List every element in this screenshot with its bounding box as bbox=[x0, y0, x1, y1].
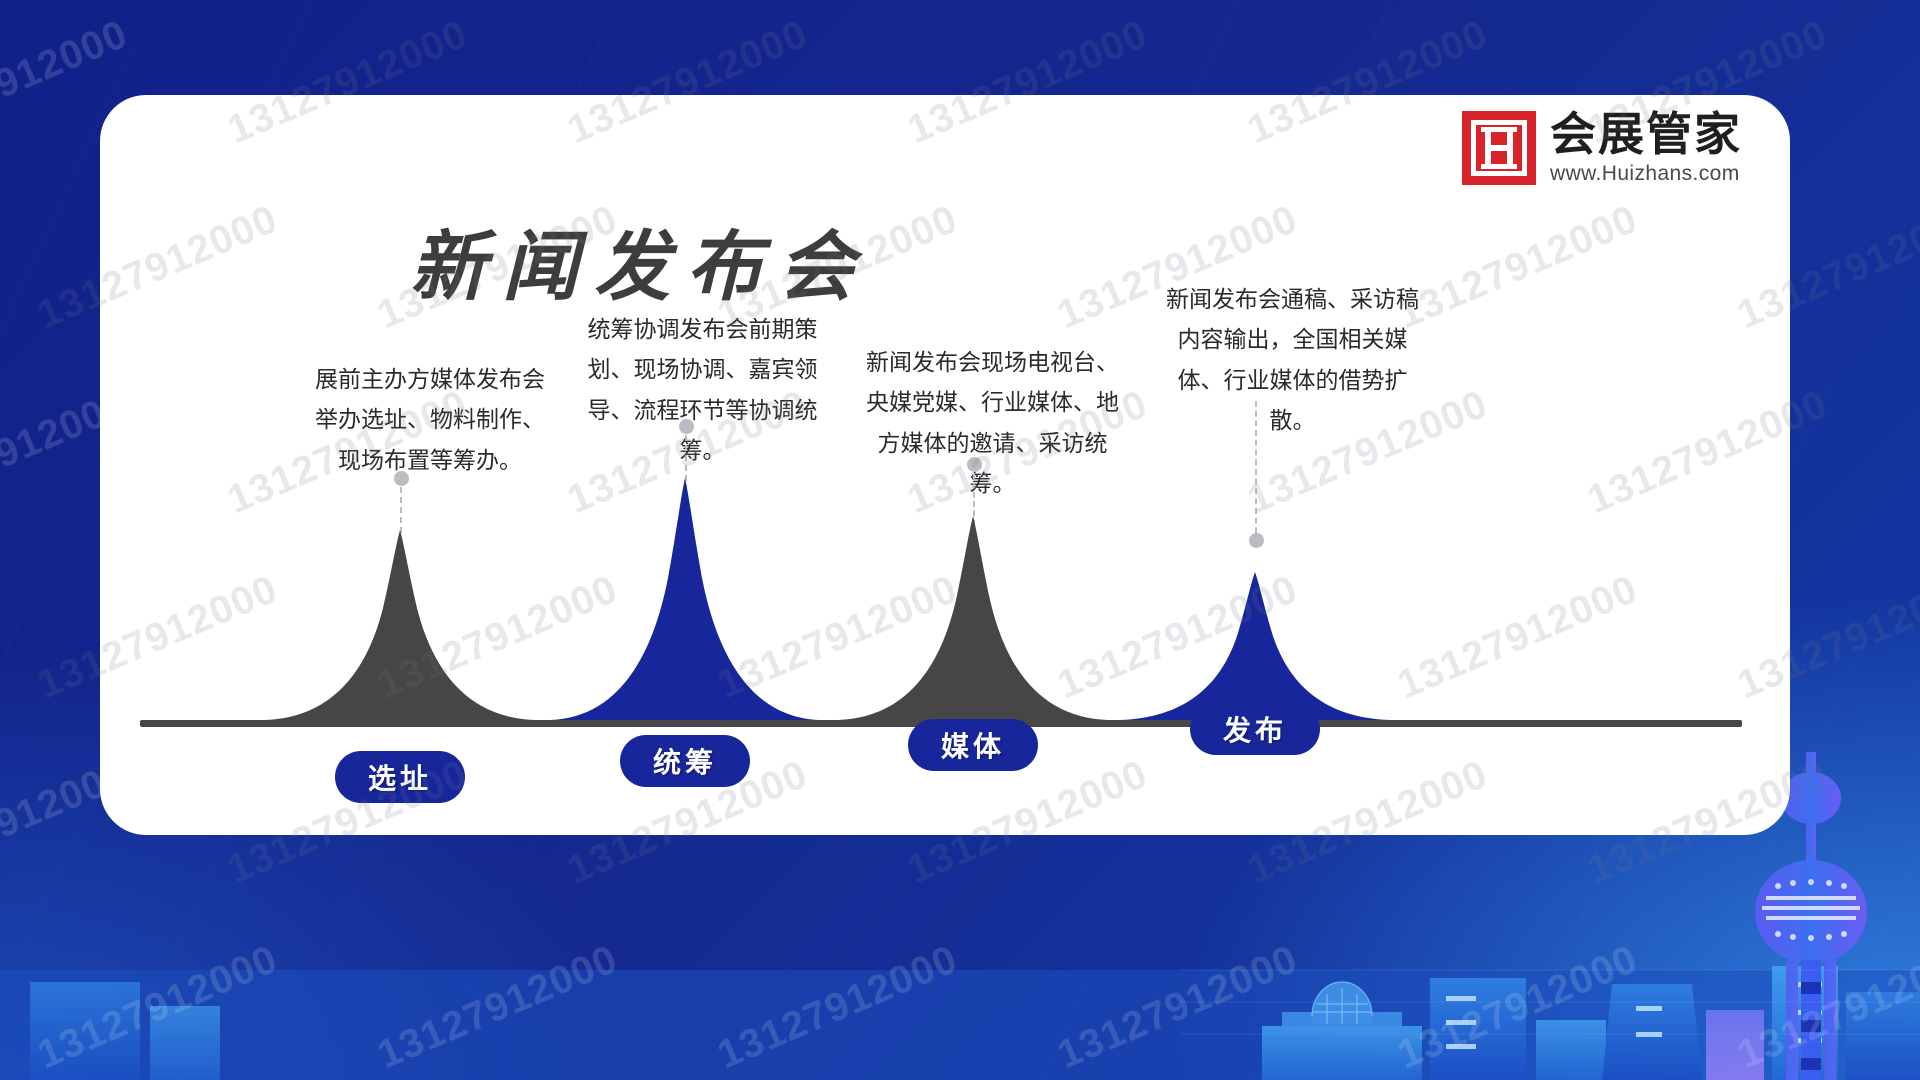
step-label-1[interactable]: 选址 bbox=[335, 751, 465, 803]
peak-2 bbox=[550, 478, 820, 720]
connector-line-4 bbox=[1255, 401, 1257, 543]
step-label-2[interactable]: 统筹 bbox=[620, 735, 750, 787]
peak-1 bbox=[265, 530, 535, 720]
step-description-3: 新闻发布会现场电视台、央媒党媒、行业媒体、地方媒体的邀请、采访统筹。 bbox=[860, 343, 1125, 504]
step-label-4[interactable]: 发布 bbox=[1190, 703, 1320, 755]
connector-dot-1 bbox=[394, 471, 409, 486]
step-description-1: 展前主办方媒体发布会举办选址、物料制作、现场布置等筹办。 bbox=[305, 360, 555, 481]
step-description-4: 新闻发布会通稿、采访稿内容输出，全国相关媒体、行业媒体的借势扩散。 bbox=[1160, 280, 1425, 441]
peak-3 bbox=[838, 516, 1108, 720]
connector-dot-4 bbox=[1249, 533, 1264, 548]
process-chart: 展前主办方媒体发布会举办选址、物料制作、现场布置等筹办。 统筹协调发布会前期策划… bbox=[100, 95, 1790, 835]
connector-dot-3 bbox=[967, 457, 982, 472]
step-description-2: 统筹协调发布会前期策划、现场协调、嘉宾领导、流程环节等协调统筹。 bbox=[570, 310, 835, 471]
content-card: 会展管家 www.Huizhans.com 新闻发布会 展前主办方媒体发布会举办… bbox=[100, 95, 1790, 835]
step-label-3[interactable]: 媒体 bbox=[908, 719, 1038, 771]
peak-4 bbox=[1120, 572, 1390, 720]
connector-dot-2 bbox=[679, 419, 694, 434]
